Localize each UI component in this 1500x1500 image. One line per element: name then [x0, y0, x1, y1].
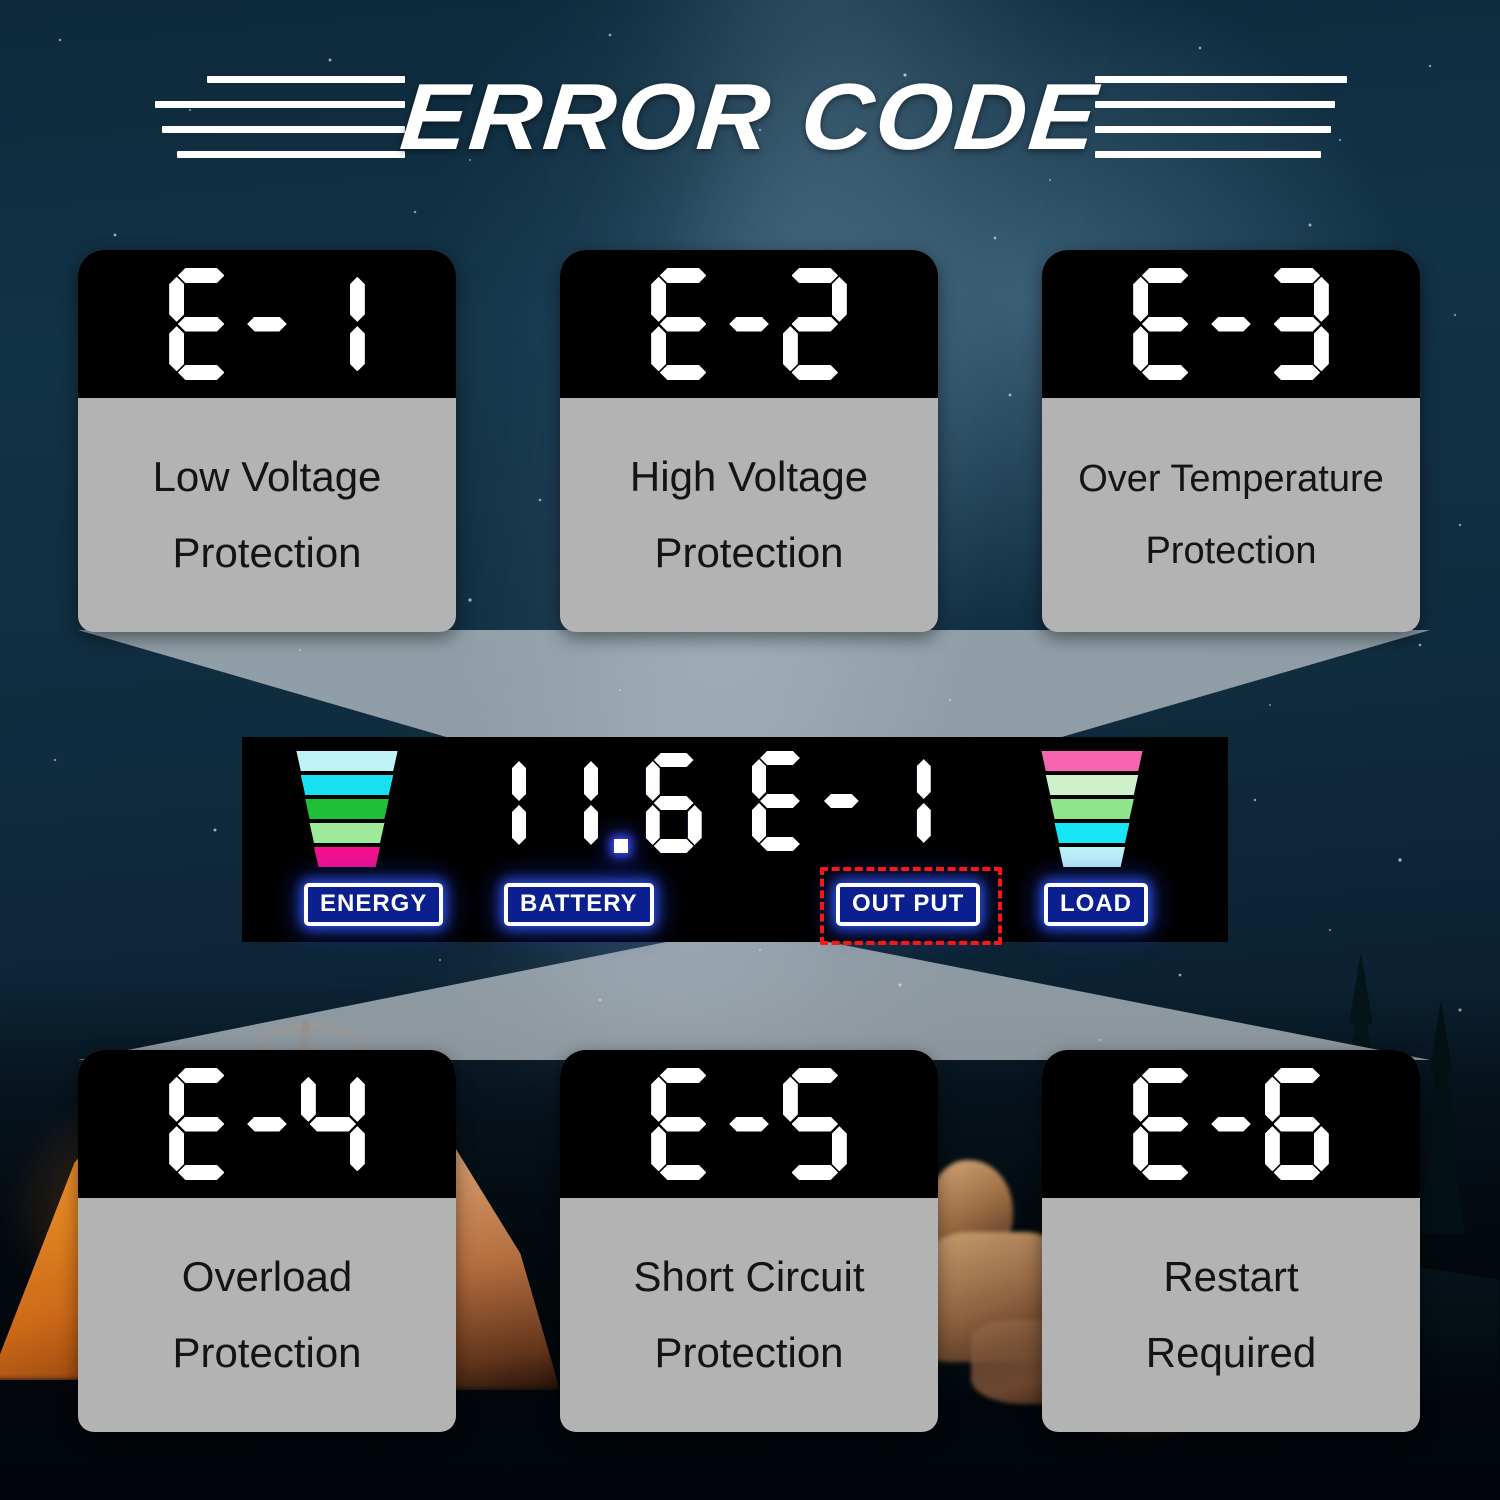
error-card-body-e1: Low Voltage Protection	[78, 398, 456, 632]
segment-g	[660, 1117, 707, 1132]
error-code-display-e2	[560, 250, 938, 398]
segment-g	[1142, 1117, 1189, 1132]
segment-dash	[1211, 268, 1251, 380]
segment-digit-E	[1133, 1068, 1197, 1180]
segment-dash	[729, 1068, 769, 1180]
segment-a	[660, 268, 707, 283]
segment-g	[760, 794, 800, 808]
segment-dash	[1211, 1068, 1251, 1180]
segment-f	[301, 1077, 316, 1122]
segment-a	[1142, 268, 1189, 283]
error-card-line2: Required	[1146, 1332, 1316, 1374]
title-rule	[1095, 151, 1321, 158]
segment-b	[1314, 277, 1329, 322]
label-output: OUT PUT	[836, 883, 980, 926]
label-energy: ENERGY	[304, 883, 443, 926]
error-code-display-e1	[78, 250, 456, 398]
meter-segment-4	[292, 823, 402, 843]
segment-g	[660, 317, 707, 332]
segment-d	[178, 365, 225, 380]
segment-d	[660, 365, 707, 380]
segment-c	[1314, 1126, 1329, 1171]
error-card-body-e4: Overload Protection	[78, 1198, 456, 1432]
segment-d	[654, 839, 694, 853]
segment-digit-E	[169, 1068, 233, 1180]
meter-segment-4	[1037, 823, 1147, 843]
segment-g	[1211, 1117, 1251, 1132]
segment-d	[1274, 365, 1321, 380]
segment-e	[169, 326, 184, 371]
error-card-line2: Protection	[654, 532, 843, 574]
segment-digit-1	[470, 753, 526, 853]
segment-e	[651, 1126, 666, 1171]
error-card-line1: Over Temperature	[1078, 460, 1384, 498]
error-card-line1: Restart	[1163, 1256, 1298, 1298]
meter-segment-2	[1037, 775, 1147, 795]
segment-e	[1265, 1126, 1280, 1171]
seven-segment-code	[1133, 268, 1329, 380]
segment-c	[350, 326, 365, 371]
segment-f	[651, 277, 666, 322]
title-rule	[1095, 76, 1347, 83]
error-card-line1: High Voltage	[630, 456, 868, 498]
segment-d	[792, 365, 839, 380]
error-card-e4[interactable]: Overload Protection	[78, 1050, 456, 1432]
segment-g	[1211, 317, 1251, 332]
segment-d	[178, 1165, 225, 1180]
segment-c	[917, 803, 931, 843]
segment-a	[792, 1068, 839, 1083]
error-code-display-e6	[1042, 1050, 1420, 1198]
segment-e	[1133, 1126, 1148, 1171]
error-code-display-e5	[560, 1050, 938, 1198]
segment-dash	[729, 268, 769, 380]
segment-dash	[247, 1068, 287, 1180]
error-card-body-e5: Short Circuit Protection	[560, 1198, 938, 1432]
segment-g	[247, 1117, 287, 1132]
meter-segment-1	[292, 751, 402, 771]
output-error-digits	[752, 751, 931, 851]
segment-dot	[614, 839, 628, 853]
segment-f	[169, 1077, 184, 1122]
meter-segment-3	[1037, 799, 1147, 819]
segment-e	[646, 805, 660, 845]
segment-digit-E	[169, 268, 233, 380]
page-title: ERROR CODE	[380, 70, 1119, 164]
segment-f	[752, 759, 766, 799]
meter-segment-1	[1037, 751, 1147, 771]
segment-e	[169, 1126, 184, 1171]
seven-segment-code	[169, 268, 365, 380]
segment-digit-5	[783, 1068, 847, 1180]
segment-digit-E	[651, 1068, 715, 1180]
segment-digit-1	[875, 751, 931, 851]
segment-a	[1274, 1068, 1321, 1083]
segment-digit-3	[1265, 268, 1329, 380]
segment-digit-1	[542, 753, 598, 853]
segment-a	[760, 751, 800, 765]
meter-segment-5	[1037, 847, 1147, 867]
segment-g	[792, 1117, 839, 1132]
segment-d	[1142, 1165, 1189, 1180]
error-card-line2: Protection	[654, 1332, 843, 1374]
battery-voltage-digits	[470, 753, 702, 853]
segment-digit-6	[646, 753, 702, 853]
title-rule	[207, 76, 405, 83]
segment-g	[729, 317, 769, 332]
segment-digit-E	[1133, 268, 1197, 380]
segment-g	[729, 1117, 769, 1132]
error-card-line2: Protection	[1145, 532, 1316, 570]
segment-d	[792, 1165, 839, 1180]
segment-a	[1274, 268, 1321, 283]
title-rule	[155, 101, 405, 108]
segment-b	[512, 761, 526, 801]
segment-g	[654, 796, 694, 810]
segment-a	[1142, 1068, 1189, 1083]
error-card-line2: Protection	[172, 1332, 361, 1374]
segment-g	[792, 317, 839, 332]
segment-f	[1133, 277, 1148, 322]
segment-d	[1142, 365, 1189, 380]
error-card-body-e3: Over Temperature Protection	[1042, 398, 1420, 632]
segment-b	[832, 277, 847, 322]
error-card-line1: Short Circuit	[633, 1256, 864, 1298]
error-code-display-e3	[1042, 250, 1420, 398]
seven-segment-code	[651, 1068, 847, 1180]
segment-a	[660, 1068, 707, 1083]
title-rule	[162, 126, 405, 133]
segment-f	[651, 1077, 666, 1122]
title-rule	[177, 151, 405, 158]
segment-d	[660, 1165, 707, 1180]
lcd-display-panel: ENERGY BATTERY OUT PUT LOAD	[242, 737, 1228, 942]
load-meter	[1037, 751, 1147, 869]
title-rule	[1095, 126, 1331, 133]
energy-meter-bars	[292, 751, 402, 869]
segment-e	[752, 803, 766, 843]
segment-a	[654, 753, 694, 767]
segment-f	[783, 1077, 798, 1122]
segment-digit-1	[301, 268, 365, 380]
segment-a	[178, 268, 225, 283]
segment-digit-6	[1265, 1068, 1329, 1180]
title-rules-right	[1095, 76, 1345, 158]
meter-segment-3	[292, 799, 402, 819]
segment-decimal-point	[614, 753, 630, 853]
segment-a	[178, 1068, 225, 1083]
segment-digit-2	[783, 268, 847, 380]
error-card-line1: Low Voltage	[153, 456, 382, 498]
title-rule	[1095, 101, 1335, 108]
segment-digit-4	[301, 1068, 365, 1180]
error-card-line2: Protection	[172, 532, 361, 574]
error-card-e3[interactable]: Over Temperature Protection	[1042, 250, 1420, 632]
segment-g	[824, 794, 859, 808]
segment-e	[651, 326, 666, 371]
load-meter-bars	[1037, 751, 1147, 869]
segment-g	[1142, 317, 1189, 332]
seven-segment-code	[651, 268, 847, 380]
segment-g	[1274, 317, 1321, 332]
segment-b	[350, 277, 365, 322]
segment-g	[247, 317, 287, 332]
page-header: ERROR CODE	[0, 58, 1500, 176]
segment-d	[1274, 1165, 1321, 1180]
label-battery: BATTERY	[504, 883, 654, 926]
segment-c	[1314, 326, 1329, 371]
segment-c	[350, 1126, 365, 1171]
error-card-line1: Overload	[182, 1256, 352, 1298]
segment-f	[1265, 1077, 1280, 1122]
segment-digit-E	[752, 751, 808, 851]
segment-f	[1133, 1077, 1148, 1122]
segment-g	[178, 317, 225, 332]
meter-segment-2	[292, 775, 402, 795]
energy-meter	[292, 751, 402, 869]
segment-d	[760, 837, 800, 851]
error-card-body-e2: High Voltage Protection	[560, 398, 938, 632]
segment-c	[832, 1126, 847, 1171]
segment-f	[169, 277, 184, 322]
segment-a	[792, 268, 839, 283]
segment-c	[584, 805, 598, 845]
segment-f	[646, 761, 660, 801]
segment-b	[350, 1077, 365, 1122]
error-card-e2[interactable]: High Voltage Protection	[560, 250, 938, 632]
label-load: LOAD	[1044, 883, 1148, 926]
seven-segment-code	[169, 1068, 365, 1180]
segment-g	[178, 1117, 225, 1132]
segment-c	[512, 805, 526, 845]
segment-b	[584, 761, 598, 801]
title-rules-left	[155, 76, 405, 158]
error-card-e6[interactable]: Restart Required	[1042, 1050, 1420, 1432]
error-card-body-e6: Restart Required	[1042, 1198, 1420, 1432]
segment-g	[1274, 1117, 1321, 1132]
segment-c	[688, 805, 702, 845]
error-code-display-e4	[78, 1050, 456, 1198]
error-card-e1[interactable]: Low Voltage Protection	[78, 250, 456, 632]
seven-segment-code	[1133, 1068, 1329, 1180]
segment-digit-E	[651, 268, 715, 380]
meter-segment-5	[292, 847, 402, 867]
segment-g	[310, 1117, 357, 1132]
segment-dash	[824, 751, 859, 851]
segment-e	[783, 326, 798, 371]
segment-b	[917, 759, 931, 799]
error-card-e5[interactable]: Short Circuit Protection	[560, 1050, 938, 1432]
infographic-canvas: ERROR CODE Low Voltage Protection High V…	[0, 0, 1500, 1500]
segment-dash	[247, 268, 287, 380]
segment-e	[1133, 326, 1148, 371]
